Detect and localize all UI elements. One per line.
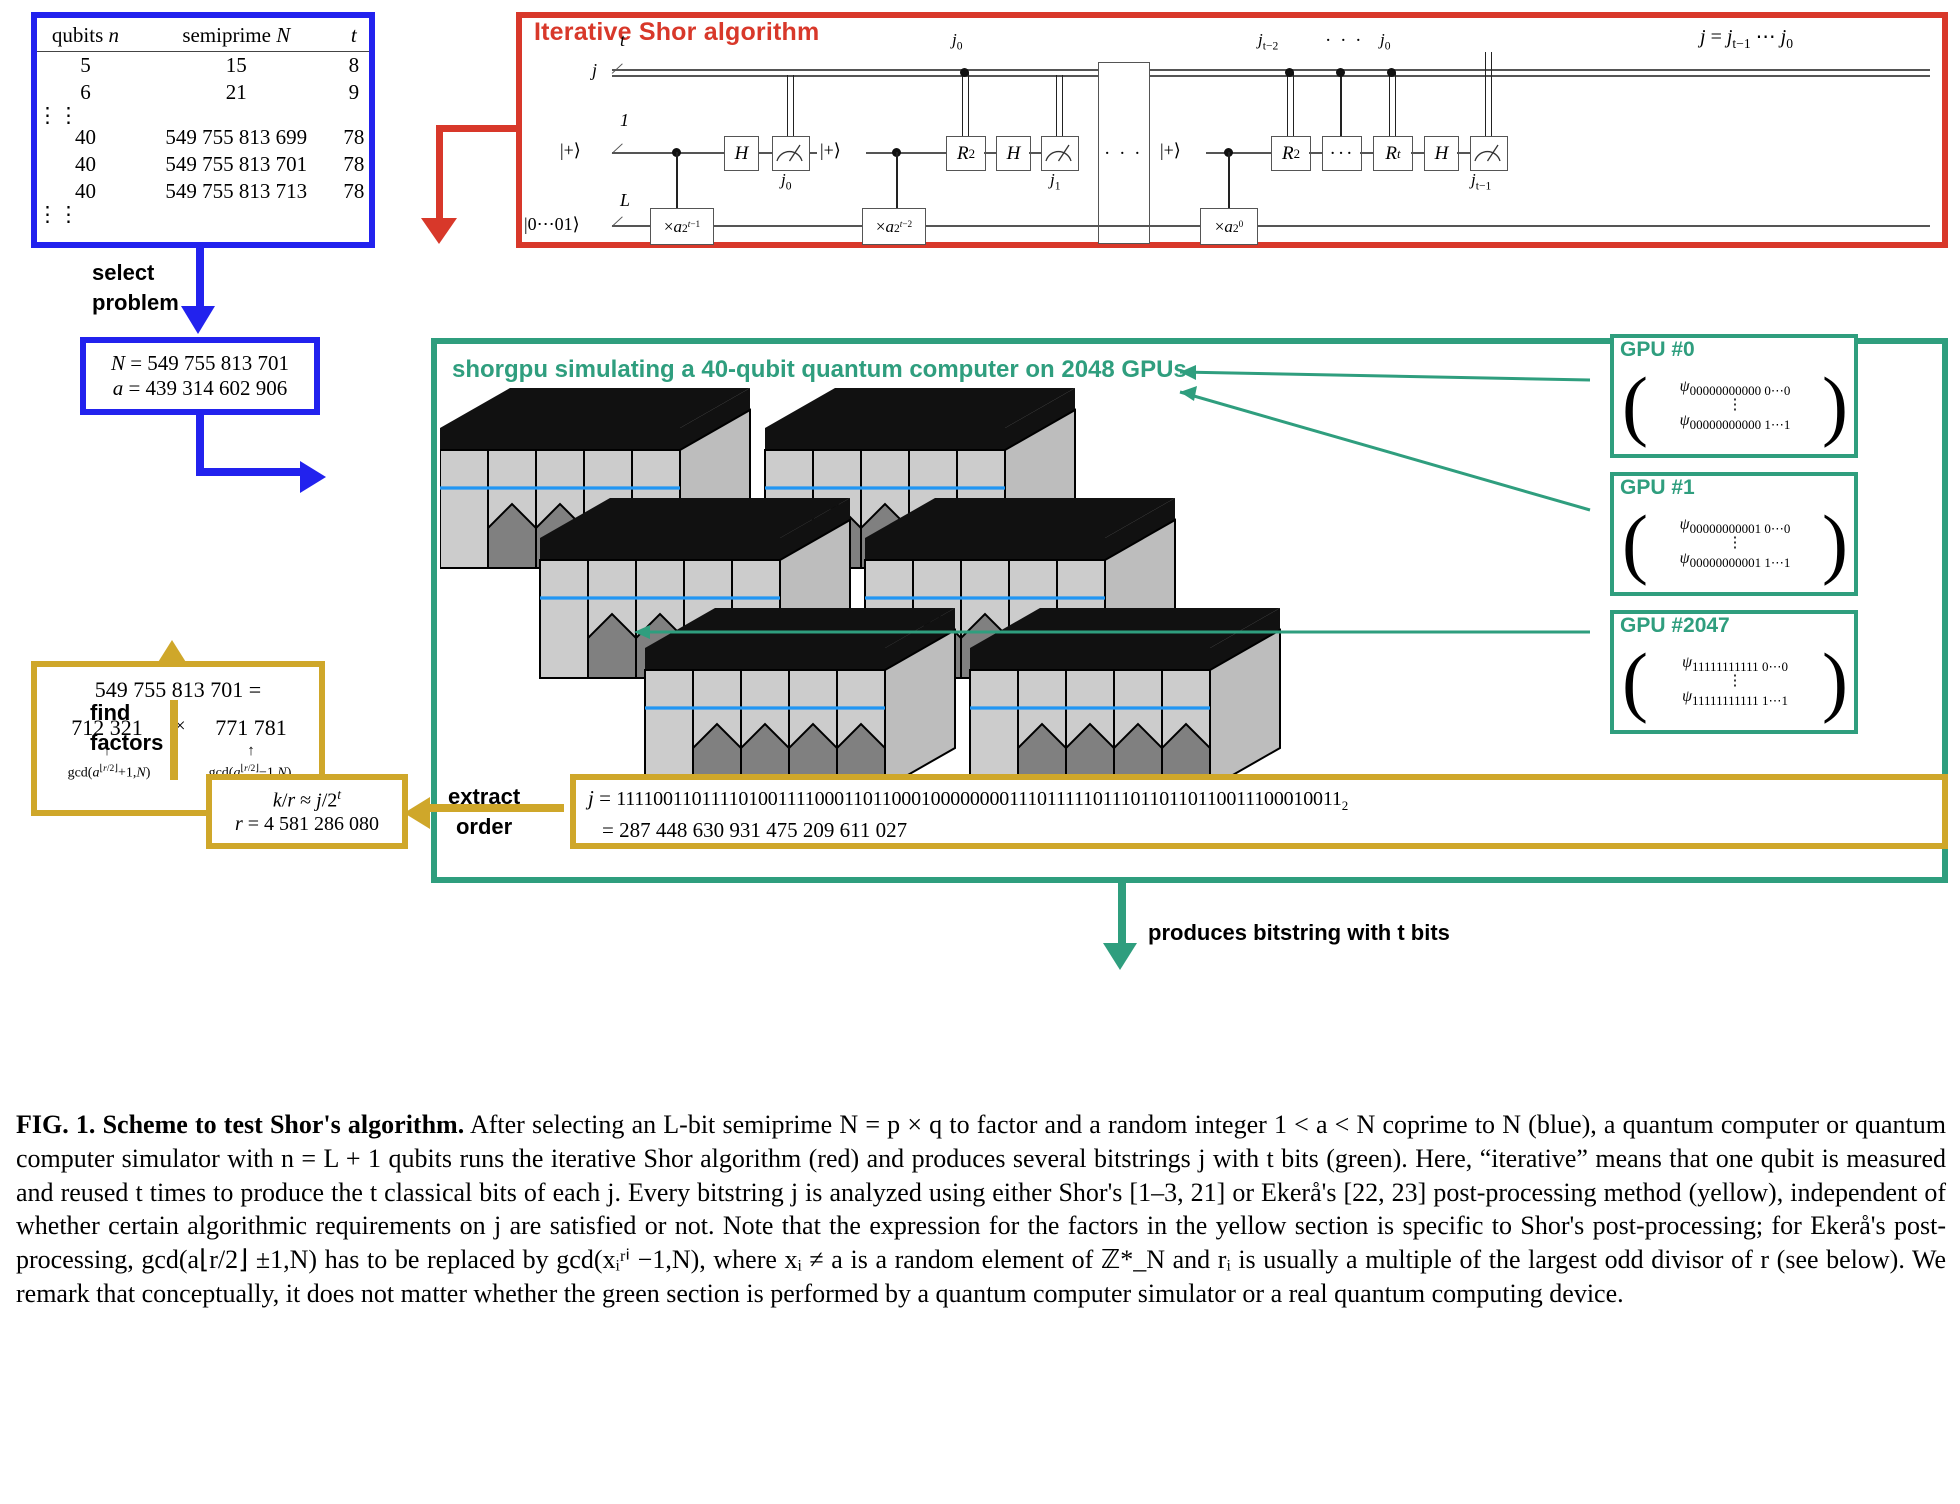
figure-root: qubits n semiprime N t 5 15 8 6 21 9 ⋮ ⋮… <box>0 0 1960 1504</box>
register-j-width-label: t <box>620 30 625 51</box>
table-row: 5 15 8 <box>37 52 369 80</box>
cell-N: 549 755 813 699 <box>134 124 339 151</box>
cell-t <box>134 205 339 223</box>
extract-order-label-line2: order <box>448 812 520 842</box>
gate-modmul-1: ×a2t−1 <box>650 208 714 245</box>
classical-control-line-1 <box>962 72 969 136</box>
gate-modmul-3: ×a20 <box>1200 208 1258 245</box>
classical-control-line-3 <box>1340 72 1342 136</box>
problem-to-sim-arrow-shaft-h <box>196 468 306 476</box>
caption-heading: Scheme to test Shor's algorithm. <box>103 1110 465 1139</box>
gate-R2-2: R2 <box>1271 136 1311 171</box>
problem-instance-box: N = 549 755 813 701 a = 439 314 602 906 <box>80 337 320 415</box>
factors-product-line: 549 755 813 701 = <box>37 677 319 703</box>
cell-n: 6 <box>37 79 134 106</box>
figure-caption: FIG. 1. Scheme to test Shor's algorithm.… <box>16 1108 1946 1311</box>
circuit-ellipsis-dots: · · · <box>1104 143 1142 165</box>
table-row: 40 549 755 813 713 78 <box>37 178 369 205</box>
cell-t: 78 <box>339 151 369 178</box>
gate-hadamard-1: H <box>724 136 759 171</box>
table-header-row: qubits n semiprime N t <box>37 22 369 52</box>
produces-arrow-head <box>1103 943 1137 970</box>
left-paren-icon: ( <box>1622 376 1648 435</box>
measurement-label-1: j0 <box>781 170 792 192</box>
classical-control-line-4 <box>1389 72 1396 136</box>
classical-feed-3 <box>1485 52 1492 136</box>
work-register-wire <box>612 225 1930 227</box>
col-header-t: t <box>339 22 369 52</box>
gpu-state-bot-2047: ψ11111111111 1⋯1 <box>1682 688 1788 705</box>
table-row-ellipsis: ⋮ ⋮ <box>37 106 369 124</box>
left-paren-icon: ( <box>1622 514 1648 573</box>
classical-control-label-1: j0 <box>952 30 963 52</box>
produces-arrow-shaft <box>1118 880 1126 952</box>
cell-n: 40 <box>37 151 134 178</box>
gpu-state-dots-1: ⋮ <box>1728 539 1743 547</box>
gate-hadamard-3: H <box>1424 136 1459 171</box>
bitstring-box: j = 111100110111101001111000110110001000… <box>570 774 1948 849</box>
gpu-state-dots-2047: ⋮ <box>1728 677 1743 685</box>
classical-control-label-4: j0 <box>1380 30 1391 52</box>
circuit-to-problem-connector-h <box>436 125 522 132</box>
cell-n: 40 <box>37 178 134 205</box>
caption-fig-number: FIG. 1. <box>16 1110 95 1139</box>
gpu-connector-line-last <box>630 618 1630 648</box>
gpu-state-top-1: ψ00000000001 0⋯0 <box>1680 516 1791 533</box>
problem-to-sim-arrow-shaft-v <box>196 412 204 476</box>
bitstring-bits: 1111001101111010011110001101100010000000… <box>616 788 1342 810</box>
gpu-state-dots-0: ⋮ <box>1728 401 1743 409</box>
classical-wire-bottom <box>612 75 1930 77</box>
bitstring-decimal-line: = 287 448 630 931 475 209 611 027 <box>602 818 907 843</box>
table-row: 6 21 9 <box>37 79 369 106</box>
classical-feed-2 <box>1056 75 1063 136</box>
gpu-state-bot-1: ψ00000000001 1⋯1 <box>1680 550 1791 567</box>
order-ratio-line: k/r ≈ j/2t <box>273 787 341 813</box>
ancilla-wire-seg6 <box>1309 152 1322 154</box>
work-register-ket: |0⋯01⟩ <box>524 214 580 235</box>
ancilla-ket-2: |+⟩ <box>820 140 841 161</box>
gate-hadamard-2: H <box>996 136 1031 171</box>
ancilla-wire-seg8 <box>1411 152 1424 154</box>
circuit-to-problem-connector-v <box>436 125 443 223</box>
classical-control-label-3: · · · <box>1325 30 1363 52</box>
cell-n: 40 <box>37 124 134 151</box>
cell-n: ⋮ <box>37 109 58 123</box>
right-paren-icon: ) <box>1822 376 1848 435</box>
cell-N: 15 <box>134 52 339 80</box>
ancilla-wire-seg5 <box>1206 152 1271 154</box>
cell-N: 21 <box>134 79 339 106</box>
classical-control-label-2: jt−2 <box>1258 30 1278 52</box>
find-factors-arrow-shaft <box>170 700 178 780</box>
cell-t: 78 <box>339 124 369 151</box>
classical-control-dot-4 <box>1387 68 1396 77</box>
ancilla-width-label: 1 <box>620 110 629 131</box>
find-factors-arrow-head <box>155 640 189 667</box>
measurement-label-3: jt−1 <box>1471 170 1491 192</box>
ancilla-wire-seg7 <box>1360 152 1373 154</box>
cell-N: ⋮ <box>58 208 79 222</box>
produces-label: produces bitstring with t bits <box>1148 920 1450 946</box>
table-row-ellipsis: ⋮ ⋮ <box>37 205 369 223</box>
measurement-gate-2 <box>1041 136 1079 171</box>
factor-q: 771 781 <box>201 715 301 741</box>
circuit-title: Iterative Shor algorithm <box>534 18 819 47</box>
classical-control-line-2 <box>1287 72 1294 136</box>
gate-modmul-2: ×a2t−2 <box>862 208 926 245</box>
gpu-state-vector-1: ( ψ00000000001 0⋯0 ⋮ ψ00000000001 1⋯1 ) <box>1622 496 1848 590</box>
find-factors-label: find factors <box>90 698 163 757</box>
classical-wire-top <box>612 69 1930 71</box>
gate-ellipsis: ··· <box>1322 136 1362 171</box>
classical-control-dot-3 <box>1336 68 1345 77</box>
ancilla-wire-seg9 <box>1457 152 1470 154</box>
left-paren-icon: ( <box>1622 652 1648 711</box>
extract-order-arrow-head <box>404 797 430 829</box>
select-problem-arrow-head <box>181 306 215 334</box>
extract-order-label: extract order <box>448 782 520 841</box>
factor-p-formula: gcd(a⌊r/2⌋+1,N) <box>39 763 179 782</box>
semiprime-table-grid: qubits n semiprime N t 5 15 8 6 21 9 ⋮ ⋮… <box>37 22 369 223</box>
right-paren-icon: ) <box>1822 652 1848 711</box>
order-r-line: r = 4 581 286 080 <box>235 813 379 836</box>
find-factors-label-line1: find <box>90 698 163 728</box>
problem-to-sim-arrow-head <box>300 461 326 493</box>
cell-n: 5 <box>37 52 134 80</box>
gpu-state-vector-0: ( ψ00000000000 0⋯0 ⋮ ψ00000000000 1⋯1 ) <box>1622 358 1848 452</box>
cell-N: ⋮ <box>58 109 79 123</box>
ancilla-ket-1: |+⟩ <box>560 140 581 161</box>
bitstring-base: 2 <box>1342 798 1349 813</box>
ancilla-wire-seg4 <box>1029 152 1041 154</box>
problem-a-line: a = 439 314 602 906 <box>113 376 288 401</box>
work-register-width-label: L <box>620 190 630 211</box>
cell-t <box>134 106 339 124</box>
circuit-to-problem-arrow-head <box>421 218 457 244</box>
extract-order-label-line1: extract <box>448 782 520 812</box>
select-problem-label-line2: problem <box>92 288 179 318</box>
gpu-state-top-0: ψ00000000000 0⋯0 <box>1680 378 1791 395</box>
table-row: 40 549 755 813 699 78 <box>37 124 369 151</box>
gpu-state-bot-0: ψ00000000000 1⋯1 <box>1680 412 1791 429</box>
classical-control-dot-2 <box>1285 68 1294 77</box>
select-problem-label: select problem <box>92 258 179 317</box>
simulator-title: shorgpu simulating a 40-qubit quantum co… <box>452 356 1187 384</box>
bitstring-binary-line: j = 111100110111101001111000110110001000… <box>588 786 1348 814</box>
order-box: k/r ≈ j/2t r = 4 581 286 080 <box>206 774 408 849</box>
measurement-gate-1 <box>772 136 810 171</box>
ancilla-wire-seg3 <box>984 152 996 154</box>
cell-t: 9 <box>339 79 369 106</box>
measurement-label-2: j1 <box>1050 170 1061 192</box>
gate-R2-1: R2 <box>946 136 986 171</box>
factor-q-arrow: ↑ <box>201 743 301 760</box>
right-paren-icon: ) <box>1822 514 1848 573</box>
select-problem-label-line1: select <box>92 258 179 288</box>
semiprime-table: qubits n semiprime N t 5 15 8 6 21 9 ⋮ ⋮… <box>31 12 375 248</box>
problem-N-line: N = 549 755 813 701 <box>111 351 289 376</box>
cell-t: 8 <box>339 52 369 80</box>
measurement-gate-3 <box>1470 136 1508 171</box>
ancilla-ket-3: |+⟩ <box>1160 140 1181 161</box>
col-header-qubits: qubits n <box>37 22 134 52</box>
bitstring-decimal: 287 448 630 931 475 209 611 027 <box>619 818 907 842</box>
gpu-state-vector-2047: ( ψ11111111111 0⋯0 ⋮ ψ11111111111 1⋯1 ) <box>1622 634 1848 728</box>
col-header-semiprime: semiprime N <box>134 22 339 52</box>
cell-N: 549 755 813 713 <box>134 178 339 205</box>
gpu-state-top-2047: ψ11111111111 0⋯0 <box>1682 654 1788 671</box>
gate-Rt: Rt <box>1373 136 1413 171</box>
cell-N: 549 755 813 701 <box>134 151 339 178</box>
find-factors-label-line2: factors <box>90 728 163 758</box>
final-result-label: j = jt−1 ⋯ j0 <box>1700 24 1793 52</box>
select-problem-arrow-shaft <box>196 248 204 312</box>
cell-t: 78 <box>339 178 369 205</box>
classical-control-dot-1 <box>960 68 969 77</box>
cell-n: ⋮ <box>37 208 58 222</box>
classical-feed-1 <box>787 75 794 136</box>
table-row: 40 549 755 813 701 78 <box>37 151 369 178</box>
register-j-label: j <box>592 60 597 81</box>
caption-body: After selecting an L-bit semiprime N = p… <box>16 1110 1946 1308</box>
